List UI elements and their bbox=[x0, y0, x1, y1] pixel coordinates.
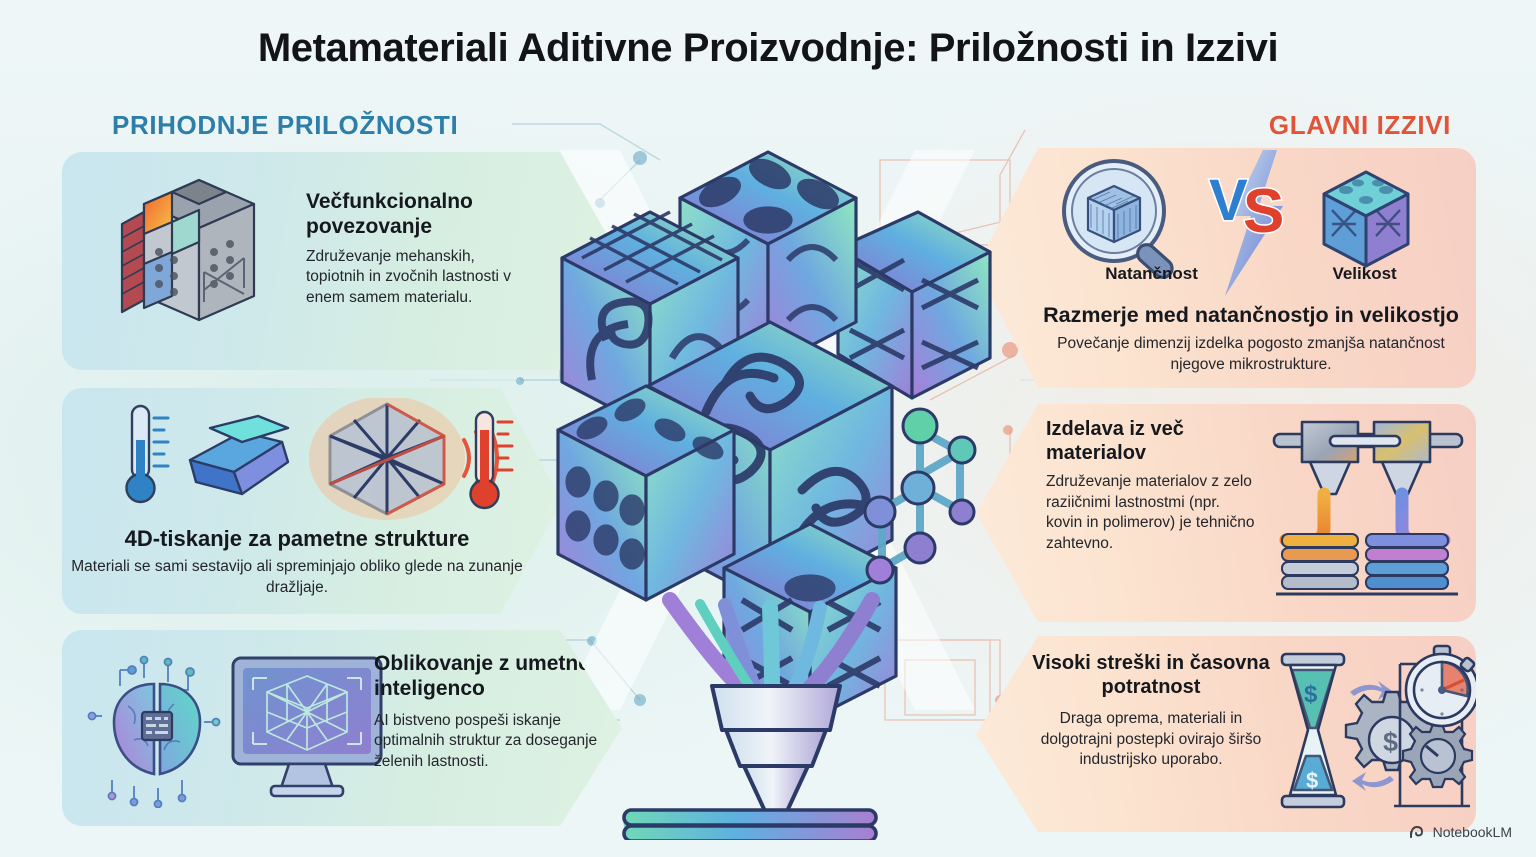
vs-labels: Natančnost Velikost bbox=[1038, 264, 1464, 284]
card-text-precision-vs-size: Razmerje med natančnostjo in velikostjo … bbox=[1038, 303, 1464, 376]
cost-time-icons-group: $ $ $ bbox=[1276, 644, 1476, 824]
monitor-wireframe-cube-icon bbox=[227, 652, 387, 807]
page-title: Metamateriali Aditivne Proizvodnje: Pril… bbox=[0, 26, 1536, 71]
card-title: 4D-tiskanje za pametne strukture bbox=[62, 526, 532, 552]
layered-metamaterial-cube-icon bbox=[104, 172, 294, 352]
card-text-4d-printing: 4D-tiskanje za pametne strukture Materia… bbox=[62, 526, 532, 598]
dual-extruder-printer-icon bbox=[1268, 416, 1468, 608]
svg-text:S: S bbox=[1243, 177, 1284, 246]
footer-watermark: NotebookLM bbox=[1408, 823, 1512, 841]
svg-text:$: $ bbox=[1304, 681, 1318, 708]
extruder-nozzle-icon bbox=[712, 686, 840, 822]
card-title: Izdelava iz več materialov bbox=[1046, 418, 1258, 465]
inner-gear-icon bbox=[1403, 724, 1472, 787]
card-high-cost-and-time[interactable]: Visoki streški in časovna potratnost Dra… bbox=[976, 636, 1476, 832]
card-title: Večfunkcionalno povezovanje bbox=[306, 190, 521, 240]
card-text-high-cost-and-time: Visoki streški in časovna potratnost Dra… bbox=[1026, 652, 1276, 771]
notebooklm-spiral-icon bbox=[1408, 823, 1426, 841]
folding-sheet-icon bbox=[190, 416, 288, 494]
vs-left-label: Natančnost bbox=[1105, 264, 1198, 284]
vs-right-label: Velikost bbox=[1332, 264, 1396, 284]
card-body: Združevanje mehanskih, topiotnih in zvoč… bbox=[306, 247, 521, 309]
svg-text:$: $ bbox=[1306, 768, 1318, 793]
card-text-multi-material-fabrication: Izdelava iz več materialov Združevanje m… bbox=[1046, 418, 1258, 555]
magnifier-microstructure-cube-icon bbox=[1054, 156, 1189, 281]
card-title: Razmerje med natančnostjo in velikostjo bbox=[1038, 303, 1464, 328]
card-body: Materiali se sami sestavijo ali spreminj… bbox=[62, 557, 532, 598]
printed-filament-layers bbox=[624, 810, 876, 840]
card-text-multifunctional-integration: Večfunkcionalno povezovanje Združevanje … bbox=[306, 190, 521, 308]
section-heading-opportunities: PRIHODNJE PRILOŽNOSTI bbox=[112, 110, 458, 141]
svg-text:$: $ bbox=[1383, 727, 1398, 757]
card-multi-material-fabrication[interactable]: Izdelava iz več materialov Združevanje m… bbox=[976, 404, 1476, 622]
card-body: Draga oprema, materiali in dolgotrajni p… bbox=[1026, 709, 1276, 771]
section-heading-challenges: GLAVNI IZZIVI bbox=[1269, 110, 1451, 141]
ai-brain-chip-icon bbox=[82, 648, 232, 808]
star-polyhedron-lattice-icon bbox=[309, 398, 465, 520]
4d-printing-icons-group bbox=[92, 398, 522, 526]
footer-brand-label: NotebookLM bbox=[1433, 824, 1512, 840]
card-precision-vs-size[interactable]: V S Natančnost Velikost Razmerje med nat… bbox=[976, 148, 1476, 388]
card-title: Visoki streški in časovna potratnost bbox=[1026, 652, 1276, 699]
lattice-cube-bottom-left bbox=[558, 386, 734, 600]
center-3d-printed-metamaterial-illustration bbox=[520, 130, 1020, 840]
cold-thermometer-icon bbox=[127, 406, 169, 502]
card-body: Združevanje materialov z zelo raziičnimi… bbox=[1046, 472, 1258, 554]
card-4d-printing[interactable]: 4D-tiskanje za pametne strukture Materia… bbox=[62, 388, 562, 614]
card-body: Povečanje dimenzij izdelka pogosto zmanj… bbox=[1038, 334, 1464, 375]
